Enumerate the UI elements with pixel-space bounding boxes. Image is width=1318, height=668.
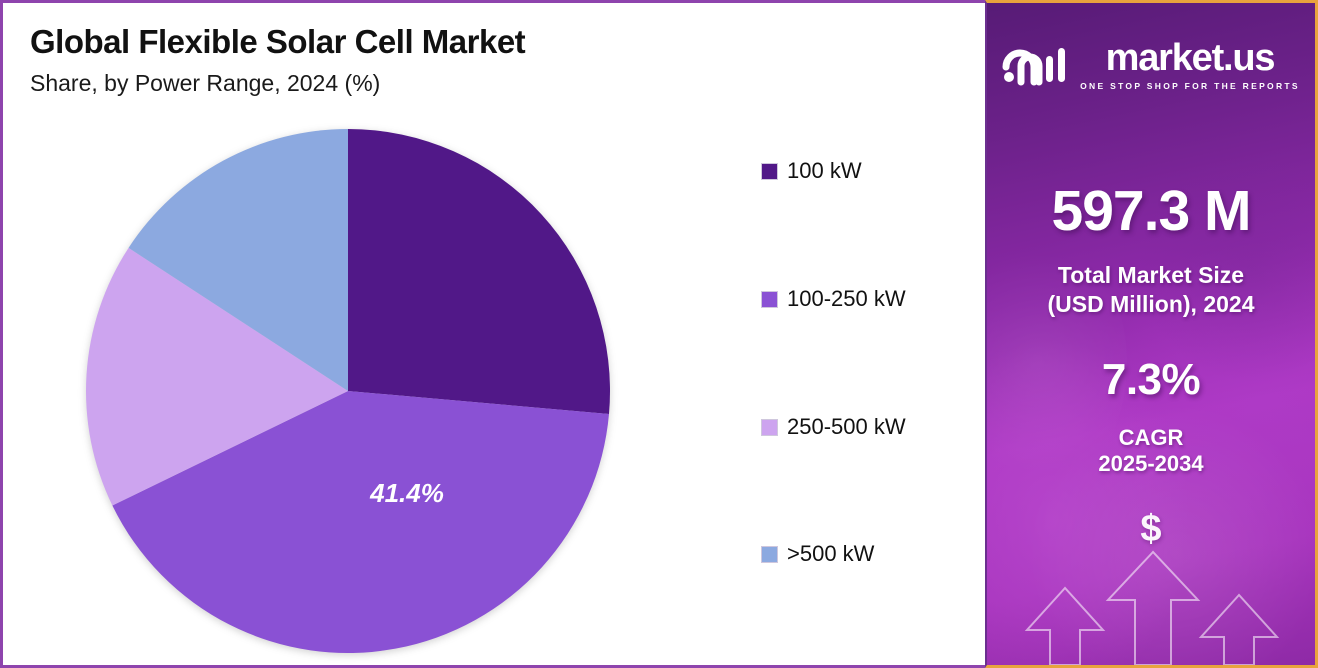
legend-item-label: 100 kW [787,158,862,184]
chart-subtitle: Share, by Power Range, 2024 (%) [30,70,525,97]
arrow-up-right-icon [1201,595,1277,665]
legend-item-label: >500 kW [787,541,874,567]
arrow-up-left-icon [1027,588,1103,665]
market-size-value: 597.3 M [987,178,1315,244]
infographic-root: Global Flexible Solar Cell Market Share,… [0,0,1318,668]
legend-item-label: 100-250 kW [787,286,906,312]
dollar-sign-icon: $ [987,508,1315,551]
legend-swatch-icon [761,546,778,563]
pie-slice-label: 41.4% [369,478,444,508]
pie-slice[interactable] [348,129,610,414]
legend-swatch-icon [761,419,778,436]
legend-item-100-250-kw[interactable]: 100-250 kW [761,286,906,312]
cagr-caption: CAGR 2025-2034 [987,425,1315,478]
market-size-caption-line1: Total Market Size [987,261,1315,290]
cagr-value: 7.3% [987,355,1315,405]
legend-item-label: 250-500 kW [787,414,906,440]
cagr-caption-line1: CAGR [987,425,1315,451]
cagr-caption-line2: 2025-2034 [987,451,1315,477]
market-size-caption: Total Market Size (USD Million), 2024 [987,261,1315,319]
legend-item-100-kw[interactable]: 100 kW [761,158,862,184]
growth-arrows-graphic: $ [987,490,1315,665]
brand-logo[interactable]: market.us ONE STOP SHOP FOR THE REPORTS [987,39,1315,91]
arrow-up-center-icon [1108,552,1198,665]
legend-swatch-icon [761,291,778,308]
stats-panel: market.us ONE STOP SHOP FOR THE REPORTS … [985,0,1318,668]
chart-header: Global Flexible Solar Cell Market Share,… [30,23,525,97]
legend-swatch-icon [761,163,778,180]
market-us-logo-icon [1002,40,1068,90]
pie-chart: 41.4% [83,126,614,657]
brand-tagline: ONE STOP SHOP FOR THE REPORTS [1080,81,1300,91]
brand-name: market.us [1106,39,1275,77]
pie-chart-svg: 41.4% [83,126,614,657]
market-size-caption-line2: (USD Million), 2024 [987,290,1315,319]
legend-item-250-500-kw[interactable]: 250-500 kW [761,414,906,440]
legend-item-over-500-kw[interactable]: >500 kW [761,541,874,567]
chart-title: Global Flexible Solar Cell Market [30,23,525,61]
chart-legend: 100 kW 100-250 kW 250-500 kW >500 kW [761,158,976,578]
brand-text: market.us ONE STOP SHOP FOR THE REPORTS [1080,39,1300,91]
chart-panel: Global Flexible Solar Cell Market Share,… [0,0,985,668]
